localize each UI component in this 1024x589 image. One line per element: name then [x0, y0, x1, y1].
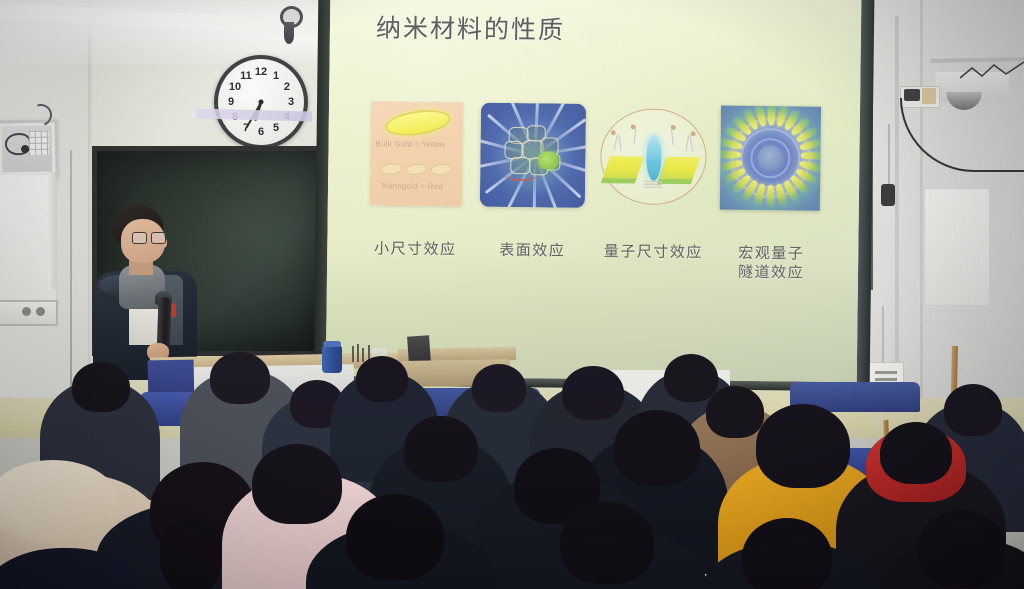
- wall-conduit: [895, 16, 899, 376]
- ponytail-icon: [160, 520, 222, 589]
- student-head: [252, 444, 342, 524]
- clock-numeral: 6: [254, 127, 268, 138]
- student-head: [664, 354, 718, 402]
- tunnel-gap-icon: [644, 181, 662, 188]
- student-head: [614, 410, 700, 486]
- clock-numeral: 3: [284, 97, 298, 108]
- slide-title: 纳米材料的性质: [376, 8, 565, 46]
- clock-numeral: 2: [280, 82, 294, 93]
- fur-trim-icon: [0, 460, 118, 542]
- student-head: [918, 510, 1006, 588]
- red-arc-icon: [504, 167, 538, 181]
- hanging-plug-icon: [881, 184, 895, 206]
- student-head: [346, 494, 444, 580]
- clock-numeral: 12: [254, 67, 268, 78]
- glasses-icon: [132, 232, 166, 242]
- panel-quantum-tunneling-image: [720, 106, 821, 211]
- panel-small-size-effect-image: Bulk Gold = Yellow Nanogold = Red: [370, 101, 463, 206]
- student-head: [404, 416, 478, 482]
- right-wall-seam: [920, 0, 923, 400]
- student-head: [210, 352, 270, 404]
- student-head: [562, 366, 624, 420]
- clock-numeral: 1: [269, 71, 283, 82]
- wall-control-panel: [0, 300, 58, 326]
- student-head: [706, 386, 764, 438]
- wall-panel: [924, 188, 990, 306]
- wall-clock: 121234567891011: [214, 55, 308, 149]
- student-head: [742, 518, 832, 589]
- student-head: [356, 356, 408, 402]
- clock-numeral: 10: [228, 82, 242, 93]
- student-head: [944, 384, 1002, 436]
- panel-quantum-size-effect-image: [600, 104, 709, 209]
- audience: [0, 352, 1024, 589]
- vertical-cord: [888, 124, 890, 186]
- framed-notice-board: [0, 119, 59, 178]
- bulk-gold-label: Bulk Gold = Yellow: [376, 139, 446, 149]
- clock-numeral: 5: [269, 123, 283, 134]
- slide-surface: 纳米材料的性质 Bulk Gold = Yellow Nanogold = Re…: [326, 0, 862, 382]
- poster-roll: [48, 172, 57, 290]
- student-head: [472, 364, 526, 412]
- student-head: [560, 502, 654, 584]
- projection-screen: 纳米材料的性质 Bulk Gold = Yellow Nanogold = Re…: [314, 0, 875, 391]
- student-head: [880, 422, 952, 484]
- clock-numeral: 9: [224, 97, 238, 108]
- nanogold-ellipses-icon: [380, 161, 454, 176]
- clock-numeral: 11: [239, 71, 253, 82]
- slide-panels: Bulk Gold = Yellow Nanogold = Red: [328, 101, 861, 237]
- panel-surface-effect-image: [480, 103, 586, 208]
- wall-speaker-icon: [280, 6, 298, 46]
- green-particle-icon: [538, 151, 558, 169]
- nanogold-label: Nanogold = Red: [382, 181, 443, 191]
- lecture-hall-photo: 121234567891011: [0, 0, 1024, 589]
- bulk-gold-ellipse-icon: [383, 106, 452, 139]
- student-head: [72, 362, 130, 412]
- student-head: [756, 404, 850, 488]
- wall-wire-icon: [960, 60, 1024, 84]
